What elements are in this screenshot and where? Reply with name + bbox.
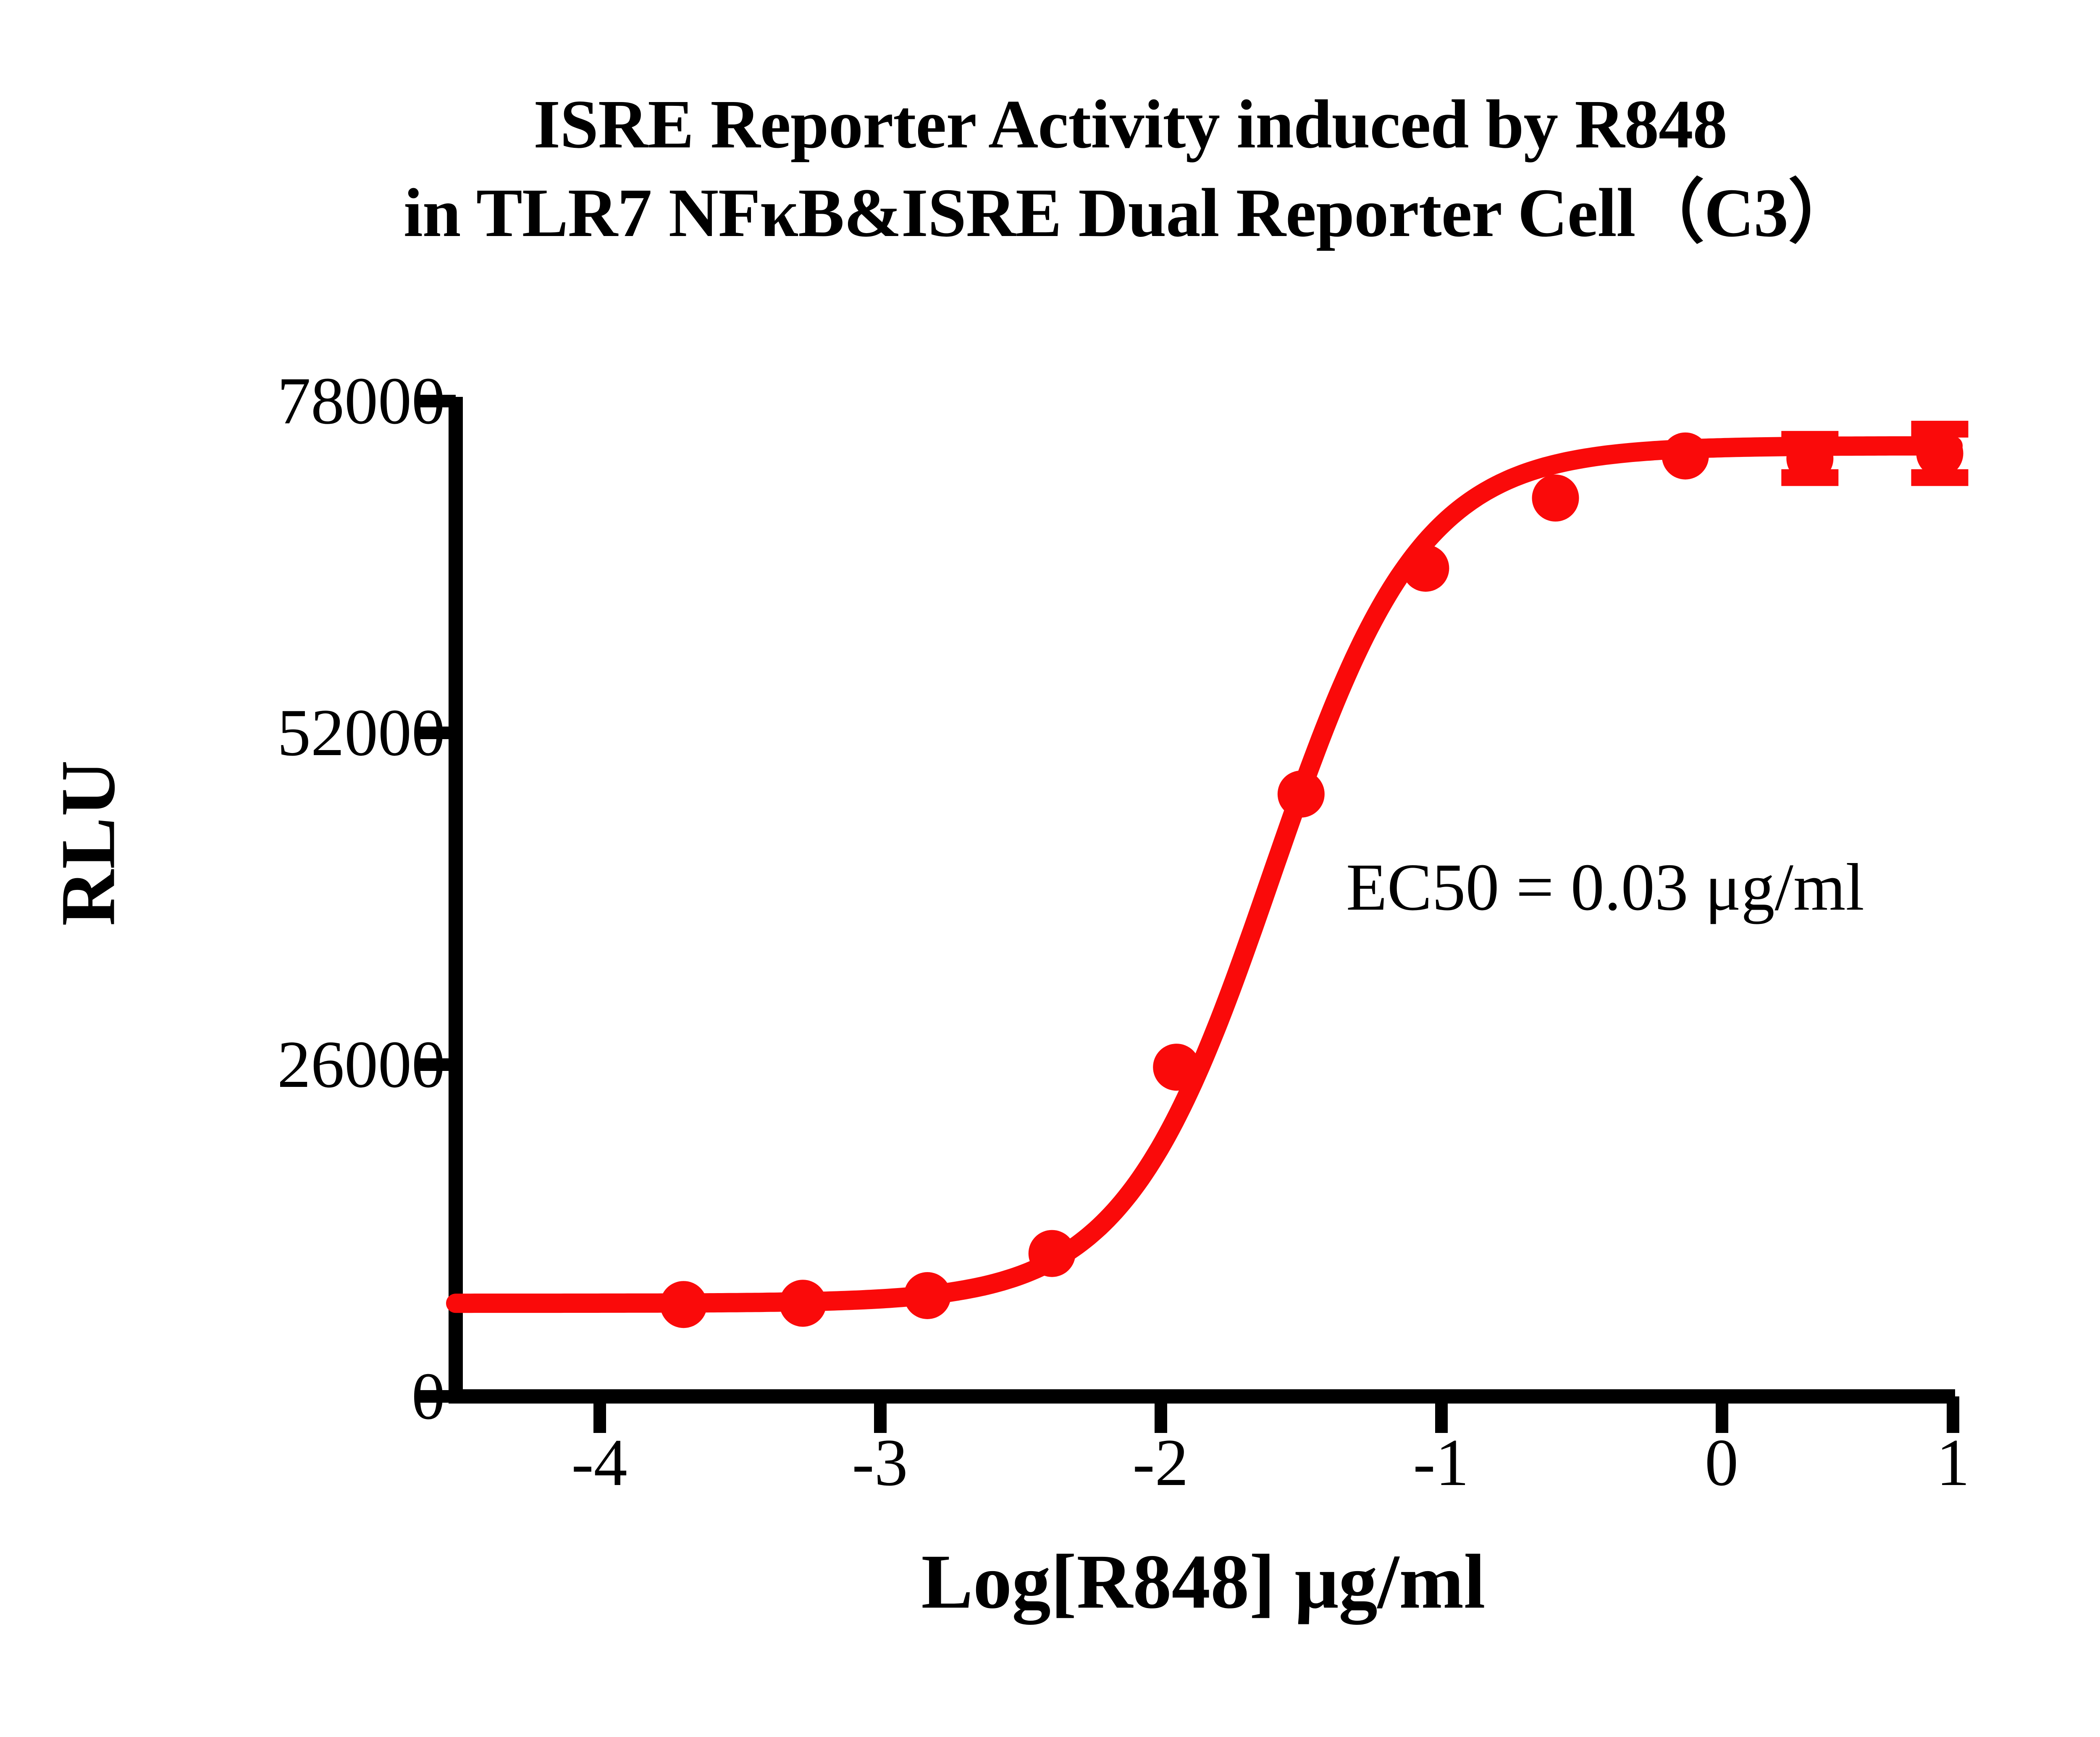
figure-root: ISRE Reporter Activity induced by R848 i… — [0, 0, 2100, 1737]
data-point — [1662, 433, 1709, 480]
data-point — [1532, 475, 1579, 522]
data-point — [1786, 435, 1833, 482]
data-point — [1402, 545, 1449, 592]
data-point — [1916, 430, 1963, 477]
plot-canvas — [0, 0, 2100, 1737]
dose-response-curve — [456, 446, 1953, 1304]
data-point — [904, 1272, 951, 1319]
data-point — [1153, 1044, 1200, 1091]
axis-lines — [449, 397, 1955, 1396]
data-point — [780, 1280, 827, 1327]
data-point — [1278, 771, 1325, 818]
data-point-markers — [660, 430, 1963, 1328]
data-point — [660, 1281, 707, 1328]
data-point — [1029, 1230, 1076, 1277]
